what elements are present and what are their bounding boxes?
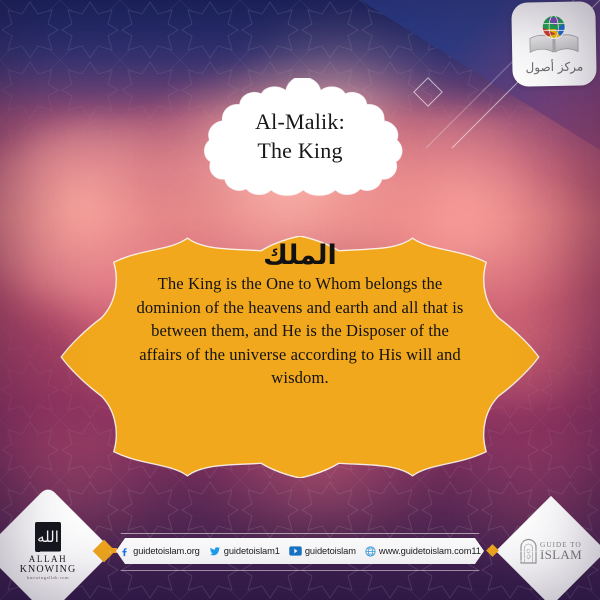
arabic-divine-name: الملك <box>263 242 337 269</box>
brand-bl-url: knowingallah.com <box>27 575 69 580</box>
allah-calligraphy-mark: الله <box>35 522 61 552</box>
social-item-twitter[interactable]: guidetoislam1 <box>209 546 280 557</box>
social-handle-youtube: guidetoislam <box>305 546 356 556</box>
youtube-icon <box>289 546 302 556</box>
brand-bl-line-1: ALLAH <box>29 554 68 564</box>
social-item-website[interactable]: www.guidetoislam.com11 <box>365 546 481 557</box>
globe-icon <box>365 546 376 557</box>
open-book-globe-icon <box>525 14 582 59</box>
social-bar: guidetoislam.org guidetoislam1 guidetois… <box>116 538 484 564</box>
title-line-2: The King <box>257 137 342 166</box>
poster-canvas: مركز أصول Al-Malik: The King الملك The K… <box>0 0 600 600</box>
social-handle-facebook: guidetoislam.org <box>133 546 200 556</box>
facebook-icon <box>119 546 130 557</box>
social-item-youtube[interactable]: guidetoislam <box>289 546 356 556</box>
brand-arabic-label: مركز أصول <box>525 59 583 74</box>
social-handle-website: www.guidetoislam.com11 <box>379 546 481 556</box>
brand-badge-top-right[interactable]: مركز أصول <box>511 1 596 86</box>
title-text-block: Al-Malik: The King <box>185 78 415 196</box>
twitter-icon <box>209 546 221 557</box>
social-links-row: guidetoislam.org guidetoislam1 guidetois… <box>119 546 481 557</box>
brand-bl-line-2: KNOWING <box>20 564 77 575</box>
attribute-panel: الملك The King is the One to Whom belong… <box>57 236 543 478</box>
panel-content: الملك The King is the One to Whom belong… <box>57 236 543 478</box>
attribute-description: The King is the One to Whom belongs the … <box>135 272 465 390</box>
title-banner: Al-Malik: The King <box>185 78 415 196</box>
title-line-1: Al-Malik: <box>255 108 345 137</box>
social-handle-twitter: guidetoislam1 <box>224 546 280 556</box>
social-item-facebook[interactable]: guidetoislam.org <box>119 546 200 557</box>
